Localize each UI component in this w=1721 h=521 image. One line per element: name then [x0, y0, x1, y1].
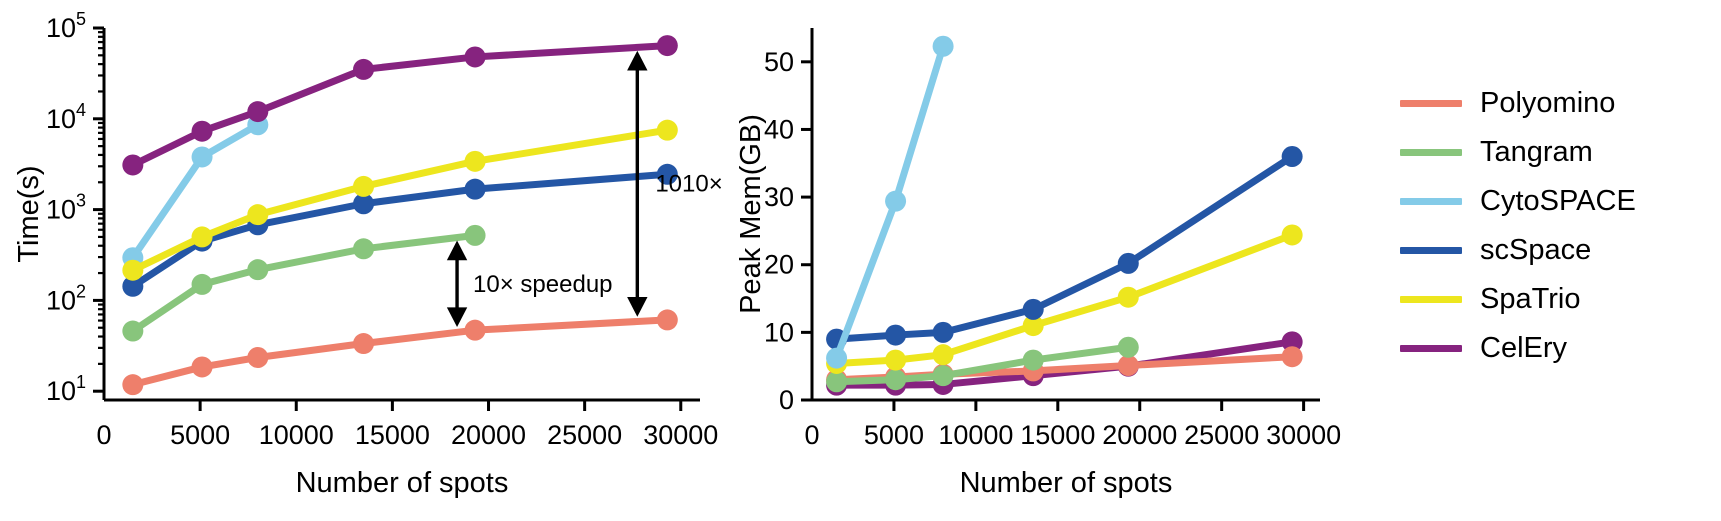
y-tick-label: 10	[764, 317, 794, 347]
data-point	[1118, 287, 1139, 308]
y-tick-exponent: 5	[76, 9, 86, 29]
y-tick-exponent: 3	[76, 191, 86, 211]
data-point	[122, 374, 143, 395]
x-tick-label: 25000	[1184, 420, 1259, 450]
x-tick-label: 25000	[547, 420, 622, 450]
data-point	[1118, 253, 1139, 274]
x-tick-label: 10000	[259, 420, 334, 450]
x-tick-label: 30000	[1266, 420, 1341, 450]
y-tick-exponent: 1	[76, 372, 86, 392]
data-point	[826, 348, 847, 369]
data-point	[1118, 337, 1139, 358]
data-point	[885, 350, 906, 371]
y-tick-label: 20	[764, 250, 794, 280]
data-point	[1023, 299, 1044, 320]
legend-item-scspace[interactable]: scSpace	[1400, 235, 1636, 265]
x-tick-label: 0	[804, 420, 819, 450]
data-point	[657, 120, 678, 141]
legend-item-label: CelEry	[1480, 333, 1567, 363]
y-tick-label: 50	[764, 47, 794, 77]
data-point	[1023, 350, 1044, 371]
legend: PolyominoTangramCytoSPACEscSpaceSpaTrioC…	[1400, 88, 1636, 363]
y-tick-label: 0	[779, 385, 794, 415]
data-point	[122, 154, 143, 175]
runtime-chart-svg: 1011021031041050500010000150002000025000…	[0, 0, 730, 521]
legend-swatch-icon	[1400, 247, 1462, 254]
data-point	[192, 226, 213, 247]
data-point	[1118, 355, 1139, 376]
data-point	[247, 347, 268, 368]
data-point	[657, 35, 678, 56]
annotation-speedup-0: 1010× speedup	[637, 60, 730, 306]
legend-item-celery[interactable]: CelEry	[1400, 333, 1636, 363]
data-point	[933, 322, 954, 343]
y-tick-label: 103	[46, 191, 86, 225]
data-point	[933, 344, 954, 365]
data-point	[353, 59, 374, 80]
y-tick-label: 101	[46, 372, 86, 406]
data-point	[353, 333, 374, 354]
x-axis-title: Number of spots	[296, 467, 509, 499]
y-tick-label: 105	[46, 9, 86, 43]
data-point	[247, 259, 268, 280]
data-point	[1282, 224, 1303, 245]
legend-item-label: CytoSPACE	[1480, 186, 1636, 216]
legend-swatch-icon	[1400, 296, 1462, 303]
data-point	[465, 151, 486, 172]
series-cytospace	[826, 36, 954, 369]
data-point	[885, 369, 906, 390]
data-point	[122, 260, 143, 281]
legend-item-label: Tangram	[1480, 137, 1593, 167]
annotation-label: 1010× speedup	[655, 171, 730, 198]
y-tick-exponent: 2	[76, 281, 86, 301]
legend-item-cytospace[interactable]: CytoSPACE	[1400, 186, 1636, 216]
data-point	[465, 320, 486, 341]
figure-root: 1011021031041050500010000150002000025000…	[0, 0, 1721, 521]
legend-swatch-icon	[1400, 100, 1462, 107]
legend-item-polyomino[interactable]: Polyomino	[1400, 88, 1636, 118]
data-point	[353, 176, 374, 197]
series-polyomino	[122, 309, 677, 395]
data-point	[353, 238, 374, 259]
data-point	[465, 225, 486, 246]
x-tick-label: 0	[96, 420, 111, 450]
data-point	[192, 146, 213, 167]
legend-item-spatrio[interactable]: SpaTrio	[1400, 284, 1636, 314]
memory-chart-svg: 0102030405005000100001500020000250003000…	[730, 0, 1350, 521]
data-point	[657, 309, 678, 330]
series-tangram	[122, 225, 485, 342]
data-point	[933, 365, 954, 386]
y-tick-exponent: 4	[76, 100, 86, 120]
y-tick-label: 102	[46, 281, 86, 315]
data-point	[122, 321, 143, 342]
legend-swatch-icon	[1400, 345, 1462, 352]
y-tick-label: 40	[764, 114, 794, 144]
series-line	[837, 157, 1293, 340]
x-tick-label: 20000	[1102, 420, 1177, 450]
legend-item-tangram[interactable]: Tangram	[1400, 137, 1636, 167]
data-point	[192, 121, 213, 142]
chart-panel-memory: 0102030405005000100001500020000250003000…	[730, 0, 1350, 521]
data-point	[885, 191, 906, 212]
legend-item-label: SpaTrio	[1480, 284, 1580, 314]
data-point	[465, 46, 486, 67]
data-point	[247, 204, 268, 225]
y-axis-title: Time(s)	[13, 165, 45, 262]
x-tick-label: 30000	[643, 420, 718, 450]
y-tick-label: 30	[764, 182, 794, 212]
x-tick-label: 15000	[1020, 420, 1095, 450]
x-tick-label: 15000	[355, 420, 430, 450]
x-tick-label: 5000	[864, 420, 924, 450]
series-line	[133, 320, 667, 385]
annotation-speedup-1: 10× speedup	[457, 249, 612, 316]
y-axis-title: Peak Mem(GB)	[735, 114, 767, 314]
legend-item-label: Polyomino	[1480, 88, 1615, 118]
legend-panel: PolyominoTangramCytoSPACEscSpaceSpaTrioC…	[1350, 0, 1721, 521]
data-point	[885, 325, 906, 346]
data-point	[192, 274, 213, 295]
data-point	[1282, 346, 1303, 367]
data-point	[192, 356, 213, 377]
x-axis-title: Number of spots	[960, 467, 1173, 499]
legend-swatch-icon	[1400, 149, 1462, 156]
data-point	[826, 371, 847, 392]
chart-panel-runtime: 1011021031041050500010000150002000025000…	[0, 0, 730, 521]
data-point	[1282, 146, 1303, 167]
x-tick-label: 20000	[451, 420, 526, 450]
data-point	[465, 179, 486, 200]
legend-swatch-icon	[1400, 198, 1462, 205]
series-line	[837, 235, 1293, 364]
legend-item-label: scSpace	[1480, 235, 1591, 265]
data-point	[247, 101, 268, 122]
x-tick-label: 5000	[170, 420, 230, 450]
y-tick-label: 104	[46, 100, 86, 134]
data-point	[933, 36, 954, 57]
annotation-label: 10× speedup	[473, 271, 612, 298]
x-tick-label: 10000	[938, 420, 1013, 450]
